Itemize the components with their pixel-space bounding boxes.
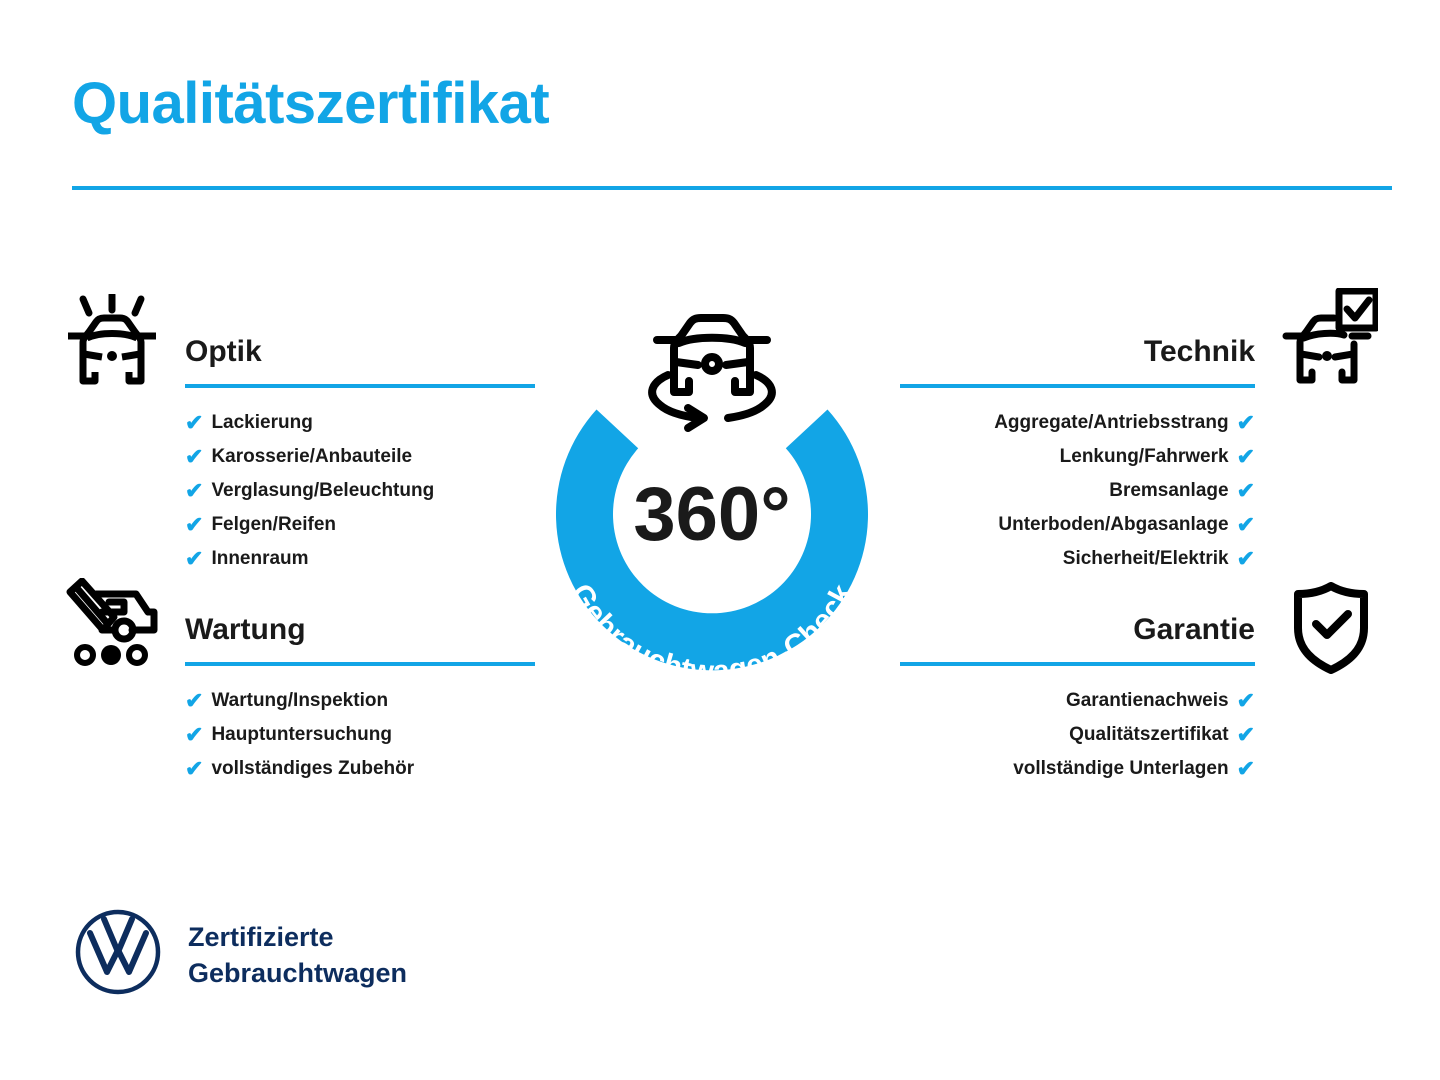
check-icon: ✔ — [185, 548, 203, 570]
section-optik-header: Optik — [185, 332, 535, 388]
list-item-label: Verglasung/Beleuchtung — [211, 474, 434, 508]
list-item-label: Hauptuntersuchung — [211, 718, 392, 752]
title-divider — [72, 186, 1392, 190]
list-item: Unterboden/Abgasanlage✔ — [900, 508, 1255, 542]
section-optik-list: ✔Lackierung ✔Karosserie/Anbauteile ✔Verg… — [185, 406, 535, 576]
list-item-label: Felgen/Reifen — [211, 508, 336, 542]
list-item: ✔Verglasung/Beleuchtung — [185, 474, 535, 508]
list-item-label: Wartung/Inspektion — [211, 684, 388, 718]
section-wartung: Wartung ✔Wartung/Inspektion ✔Hauptunters… — [185, 610, 535, 786]
list-item: vollständige Unterlagen✔ — [900, 752, 1255, 786]
list-item: ✔Lackierung — [185, 406, 535, 440]
section-wartung-list: ✔Wartung/Inspektion ✔Hauptuntersuchung ✔… — [185, 684, 535, 786]
section-technik: Technik Aggregate/Antriebsstrang✔ Lenkun… — [900, 332, 1255, 576]
list-item-label: Aggregate/Antriebsstrang — [994, 406, 1228, 440]
check-icon: ✔ — [1237, 758, 1255, 780]
section-technik-list: Aggregate/Antriebsstrang✔ Lenkung/Fahrwe… — [900, 406, 1255, 576]
list-item-label: vollständiges Zubehör — [211, 752, 414, 786]
list-item: ✔vollständiges Zubehör — [185, 752, 535, 786]
list-item: ✔Felgen/Reifen — [185, 508, 535, 542]
section-wartung-divider — [185, 662, 535, 666]
list-item: Bremsanlage✔ — [900, 474, 1255, 508]
section-technik-title: Technik — [900, 332, 1255, 372]
list-item-label: vollständige Unterlagen — [1013, 752, 1228, 786]
list-item: ✔Hauptuntersuchung — [185, 718, 535, 752]
list-item: Aggregate/Antriebsstrang✔ — [900, 406, 1255, 440]
check-icon: ✔ — [1237, 480, 1255, 502]
badge-value: 360° — [633, 472, 790, 557]
check-icon: ✔ — [1237, 412, 1255, 434]
check-icon: ✔ — [185, 758, 203, 780]
list-item-label: Innenraum — [211, 542, 308, 576]
check-icon: ✔ — [185, 446, 203, 468]
check-icon: ✔ — [185, 690, 203, 712]
section-wartung-header: Wartung — [185, 610, 535, 666]
check-icon: ✔ — [1237, 690, 1255, 712]
section-optik-divider — [185, 384, 535, 388]
footer-line-2: Gebrauchtwagen — [188, 958, 407, 988]
360-check-badge: 360° Gebrauchtwagen-Check — [512, 282, 912, 697]
section-optik-title: Optik — [185, 332, 535, 372]
section-garantie-title: Garantie — [900, 610, 1255, 650]
page-title: Qualitätszertifikat — [72, 72, 549, 136]
check-icon: ✔ — [1237, 446, 1255, 468]
section-technik-header: Technik — [900, 332, 1255, 388]
footer-text: ZertifizierteGebrauchtwagen — [188, 919, 407, 991]
check-icon: ✔ — [185, 412, 203, 434]
car-checkbox-icon — [1282, 288, 1378, 389]
vw-logo — [74, 908, 162, 1001]
check-icon: ✔ — [185, 480, 203, 502]
list-item: ✔Karosserie/Anbauteile — [185, 440, 535, 474]
list-item: Qualitätszertifikat✔ — [900, 718, 1255, 752]
list-item: Lenkung/Fahrwerk✔ — [900, 440, 1255, 474]
check-icon: ✔ — [1237, 548, 1255, 570]
shield-check-icon — [1292, 582, 1370, 679]
section-garantie-list: Garantienachweis✔ Qualitätszertifikat✔ v… — [900, 684, 1255, 786]
car-rotation-icon — [652, 318, 772, 428]
list-item: Sicherheit/Elektrik✔ — [900, 542, 1255, 576]
list-item-label: Lenkung/Fahrwerk — [1060, 440, 1229, 474]
section-garantie: Garantie Garantienachweis✔ Qualitätszert… — [900, 610, 1255, 786]
list-item-label: Garantienachweis — [1066, 684, 1229, 718]
check-icon: ✔ — [1237, 514, 1255, 536]
list-item-label: Unterboden/Abgasanlage — [998, 508, 1228, 542]
list-item-label: Karosserie/Anbauteile — [211, 440, 412, 474]
list-item: ✔Wartung/Inspektion — [185, 684, 535, 718]
pencil-car-service-icon — [62, 578, 162, 675]
section-wartung-title: Wartung — [185, 610, 535, 650]
check-icon: ✔ — [185, 724, 203, 746]
list-item-label: Lackierung — [211, 406, 312, 440]
section-optik: Optik ✔Lackierung ✔Karosserie/Anbauteile… — [185, 332, 535, 576]
list-item: Garantienachweis✔ — [900, 684, 1255, 718]
check-icon: ✔ — [1237, 724, 1255, 746]
check-icon: ✔ — [185, 514, 203, 536]
list-item-label: Qualitätszertifikat — [1069, 718, 1228, 752]
section-garantie-header: Garantie — [900, 610, 1255, 666]
list-item: ✔Innenraum — [185, 542, 535, 576]
section-garantie-divider — [900, 662, 1255, 666]
list-item-label: Bremsanlage — [1109, 474, 1228, 508]
section-technik-divider — [900, 384, 1255, 388]
car-front-lights-icon — [62, 294, 162, 391]
footer-line-1: Zertifizierte — [188, 922, 334, 952]
list-item-label: Sicherheit/Elektrik — [1063, 542, 1229, 576]
vw-certified-logo: ZertifizierteGebrauchtwagen — [74, 908, 407, 1001]
